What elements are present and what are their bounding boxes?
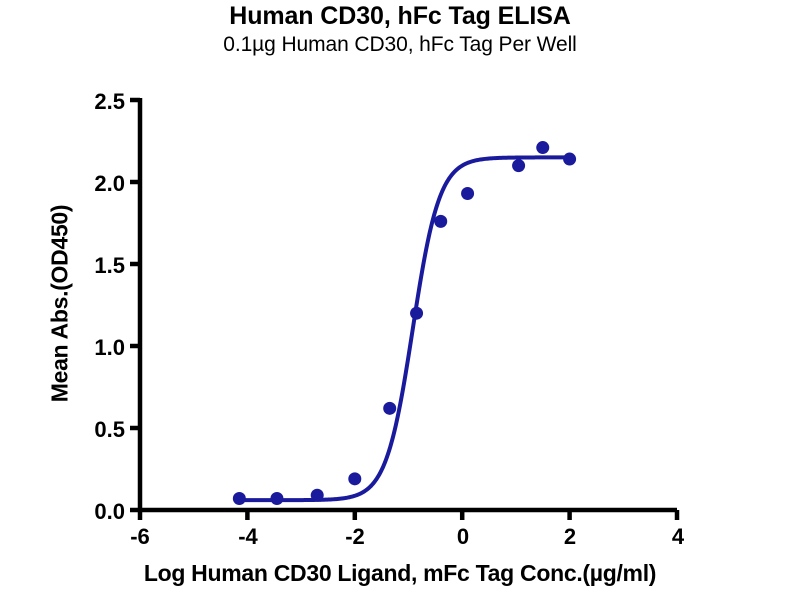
- plot-area: [0, 0, 800, 600]
- data-points: [233, 141, 576, 505]
- data-point: [461, 187, 474, 200]
- data-point: [563, 153, 576, 166]
- chart-figure: Human CD30, hFc Tag ELISA 0.1µg Human CD…: [0, 0, 800, 600]
- data-point: [536, 141, 549, 154]
- data-point: [383, 402, 396, 415]
- axis-lines: [130, 98, 677, 520]
- data-point: [311, 489, 324, 502]
- data-point: [434, 215, 447, 228]
- data-point: [348, 472, 361, 485]
- data-point: [270, 492, 283, 505]
- data-point: [233, 492, 246, 505]
- data-point: [410, 307, 423, 320]
- fit-curve: [239, 157, 569, 500]
- data-point: [512, 159, 525, 172]
